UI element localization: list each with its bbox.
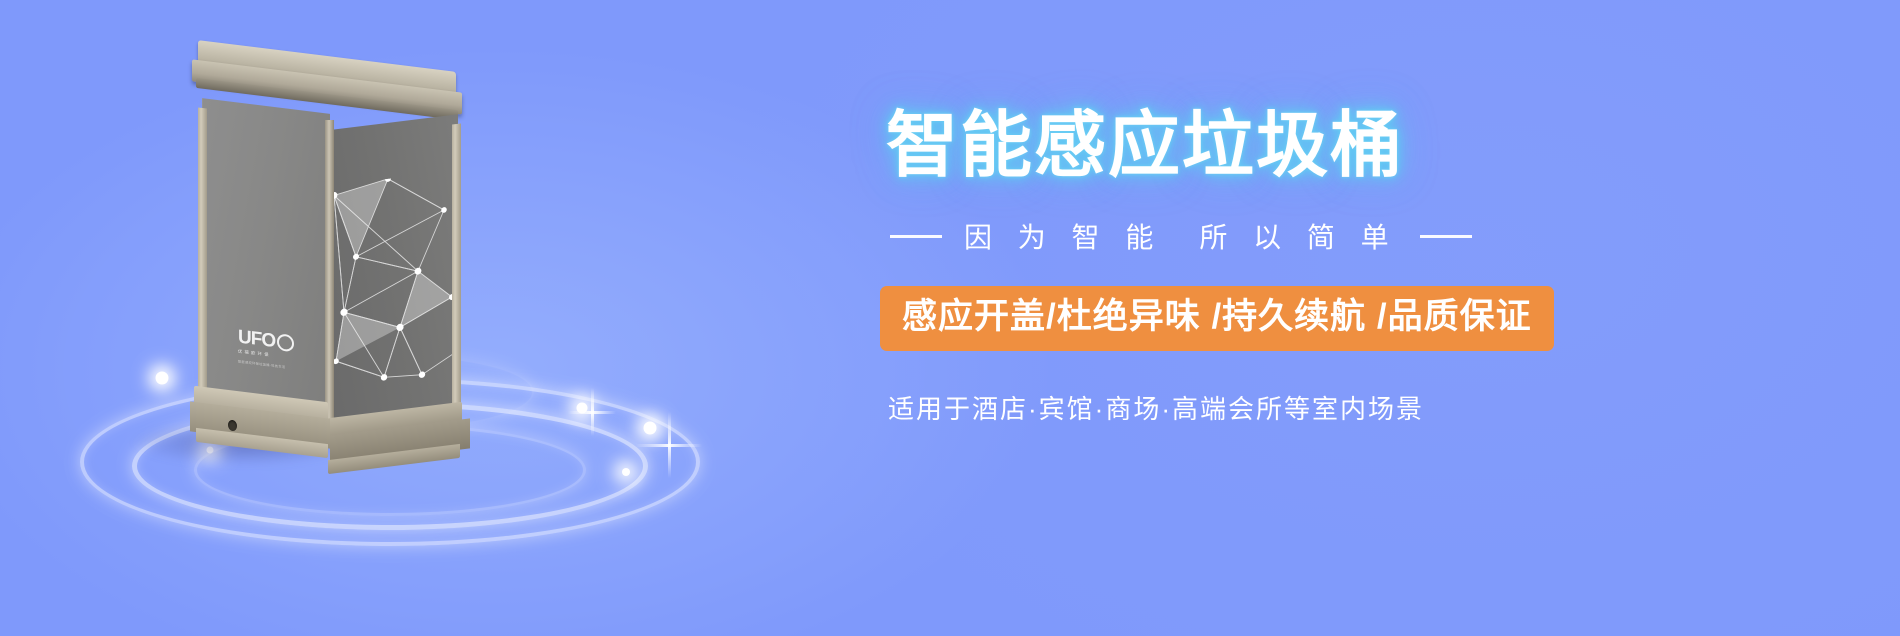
bin-trim-left xyxy=(198,107,207,408)
headline: 智能感应垃圾桶 xyxy=(880,110,1840,182)
promo-copy-block: 智能感应垃圾桶 因 为 智 能 所 以 简 单 感应开盖/杜绝异味 /持久续航 … xyxy=(880,110,1840,426)
usage-scenario-text: 适用于酒店·宾馆·商场·高端会所等室内场景 xyxy=(880,389,1840,426)
sparkle-star-icon xyxy=(568,388,616,436)
product-image: UFO 优 福 欧 环 保 智能感应环保垃圾桶·科技生活 xyxy=(70,20,710,540)
tagline-text: 因 为 智 能 所 以 简 单 xyxy=(964,216,1398,256)
tagline-row: 因 为 智 能 所 以 简 单 xyxy=(880,216,1840,256)
tagline-dash-left xyxy=(890,235,942,238)
trash-bin-render: UFO 优 福 欧 环 保 智能感应环保垃圾桶·科技生活 xyxy=(180,50,480,450)
sparkle-star-icon xyxy=(636,412,702,478)
feature-highlight-bar: 感应开盖/杜绝异味 /持久续航 /品质保证 xyxy=(880,286,1554,351)
sensor-port-icon xyxy=(228,419,237,431)
brand-logo-text: UFO xyxy=(238,327,275,351)
tagline-dash-right xyxy=(1420,235,1472,238)
bin-trim-right xyxy=(452,123,461,422)
polygon-network-graphic xyxy=(332,168,458,416)
feature-highlight-text: 感应开盖/杜绝异味 /持久续航 /品质保证 xyxy=(902,297,1532,336)
product-promo-banner: UFO 优 福 欧 环 保 智能感应环保垃圾桶·科技生活 智能感应垃圾桶 因 为… xyxy=(0,0,1900,636)
brand-ring-icon xyxy=(277,333,294,352)
bin-face-right xyxy=(332,114,458,429)
bin-trim-center xyxy=(325,120,334,426)
